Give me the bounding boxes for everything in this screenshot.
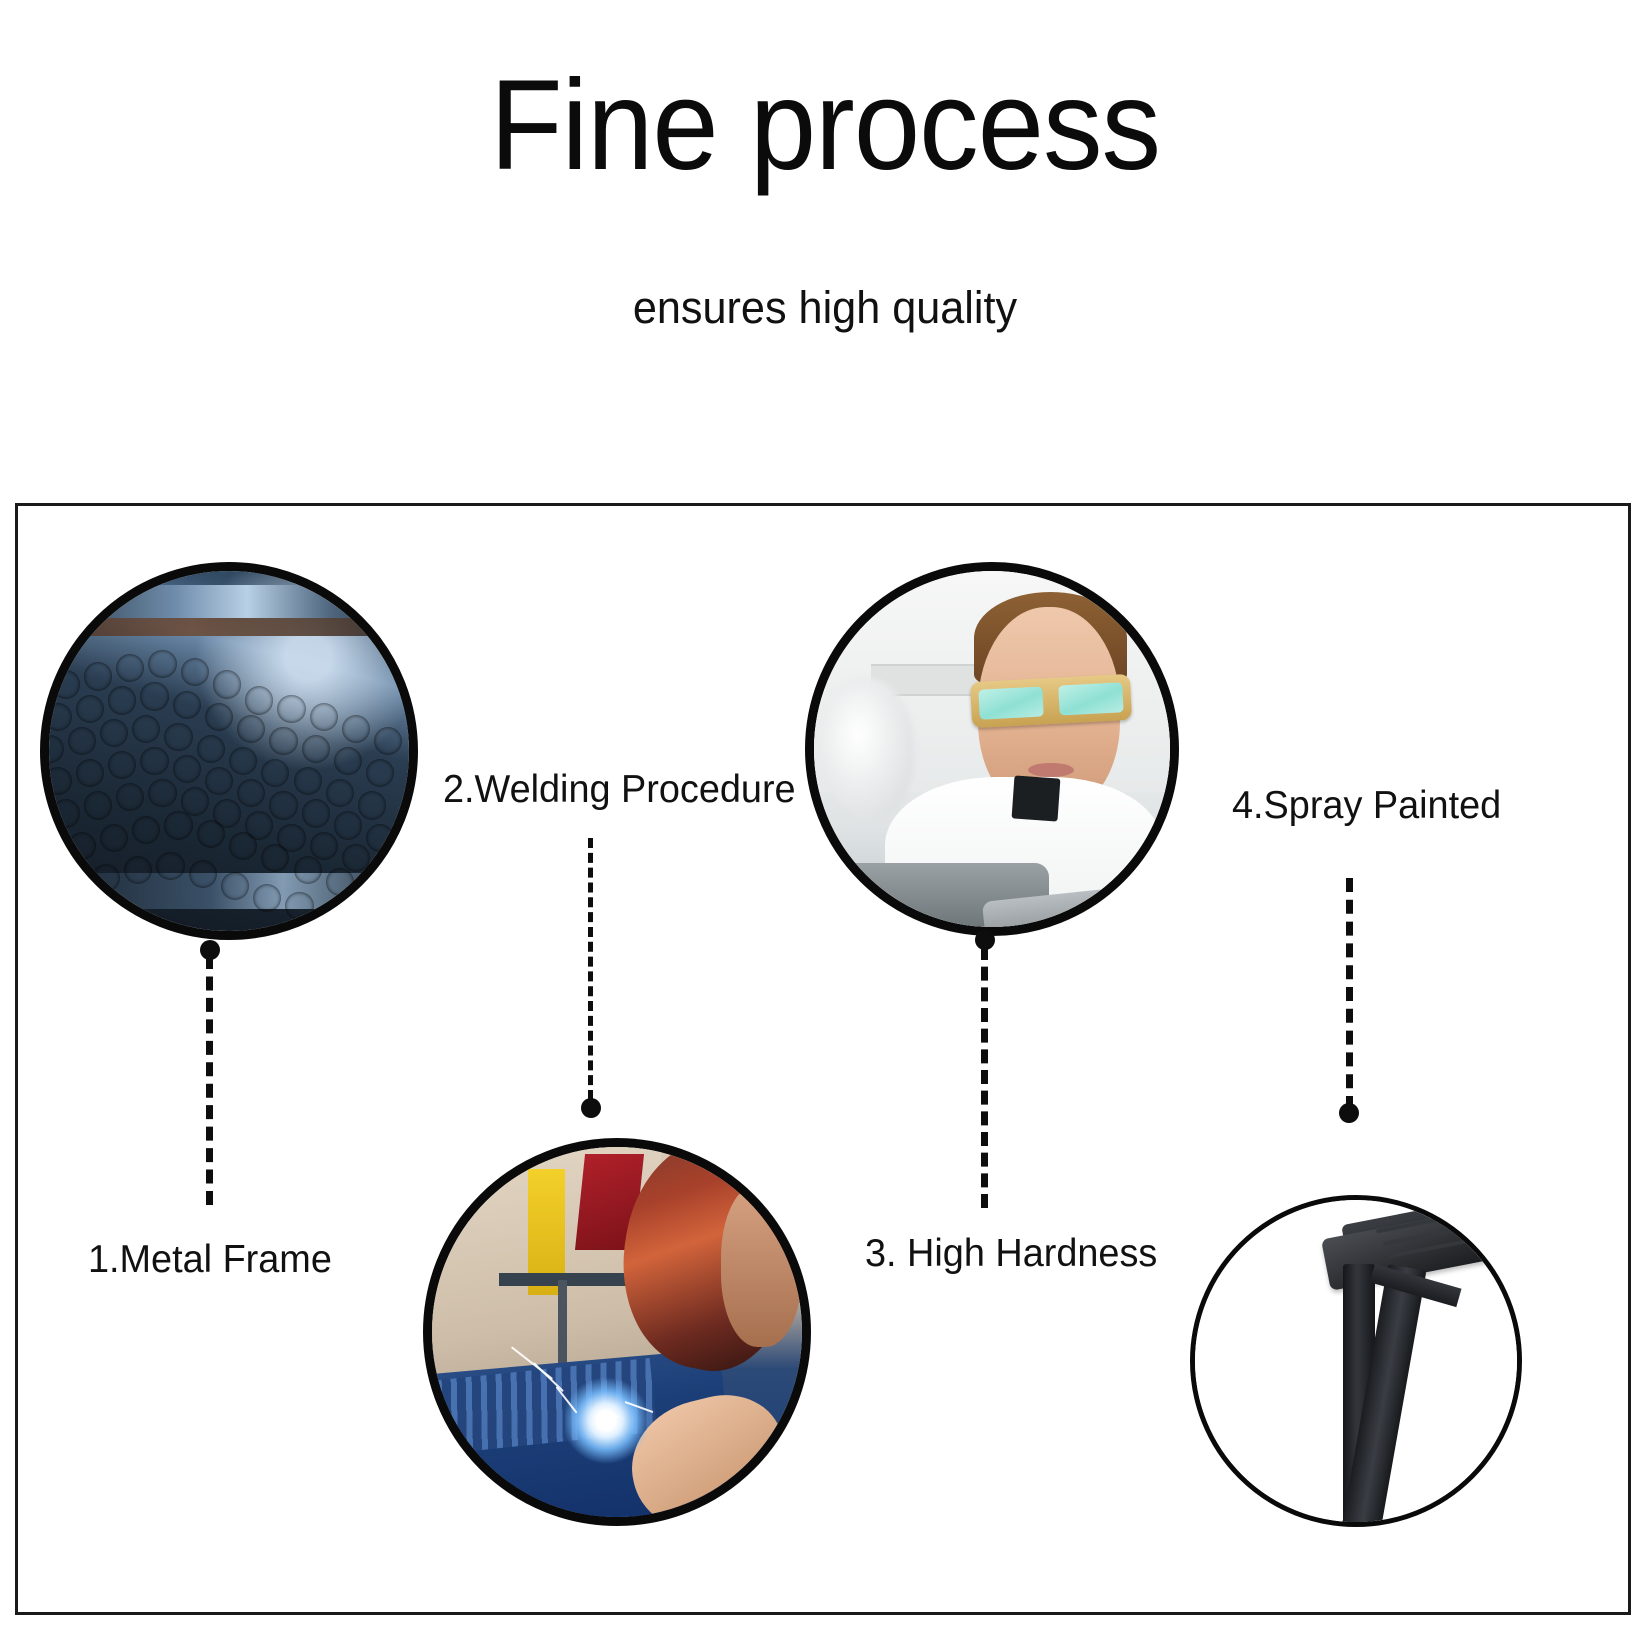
step-2-label: 2.Welding Procedure bbox=[443, 768, 796, 812]
step-3-connector-line bbox=[981, 946, 988, 1208]
high-hardness-photo bbox=[814, 571, 1170, 927]
steel-tubes-pattern bbox=[49, 571, 409, 931]
welder-face bbox=[721, 1184, 802, 1347]
step-1-photo-bubble bbox=[40, 562, 418, 940]
step-1-label: 1.Metal Frame bbox=[88, 1238, 332, 1282]
metal-frame-photo bbox=[49, 571, 409, 931]
infographic-canvas: Fine process ensures high quality bbox=[0, 0, 1650, 1650]
step-3-photo-bubble bbox=[805, 562, 1179, 936]
step-2-photo-bubble bbox=[423, 1138, 811, 1526]
step-1-connector-line bbox=[206, 955, 213, 1205]
step-3-label: 3. High Hardness bbox=[865, 1232, 1157, 1276]
step-4-photo-bubble bbox=[1190, 1195, 1522, 1527]
step-2-connector-dot bbox=[581, 1098, 601, 1118]
goggle-lens-left bbox=[978, 687, 1044, 720]
goggle-lens-right bbox=[1058, 682, 1124, 715]
step-4-connector-dot bbox=[1339, 1103, 1359, 1123]
coat-collar bbox=[1012, 776, 1061, 822]
welding-procedure-photo bbox=[432, 1147, 802, 1517]
blurred-equipment bbox=[821, 678, 914, 820]
step-2-connector-line bbox=[588, 838, 593, 1100]
page-subtitle: ensures high quality bbox=[33, 282, 1617, 334]
step-4-label: 4.Spray Painted bbox=[1232, 784, 1501, 828]
safety-goggles bbox=[970, 674, 1132, 729]
step-4-connector-line bbox=[1346, 878, 1353, 1110]
spray-painted-photo bbox=[1195, 1200, 1517, 1522]
page-title: Fine process bbox=[58, 62, 1593, 190]
